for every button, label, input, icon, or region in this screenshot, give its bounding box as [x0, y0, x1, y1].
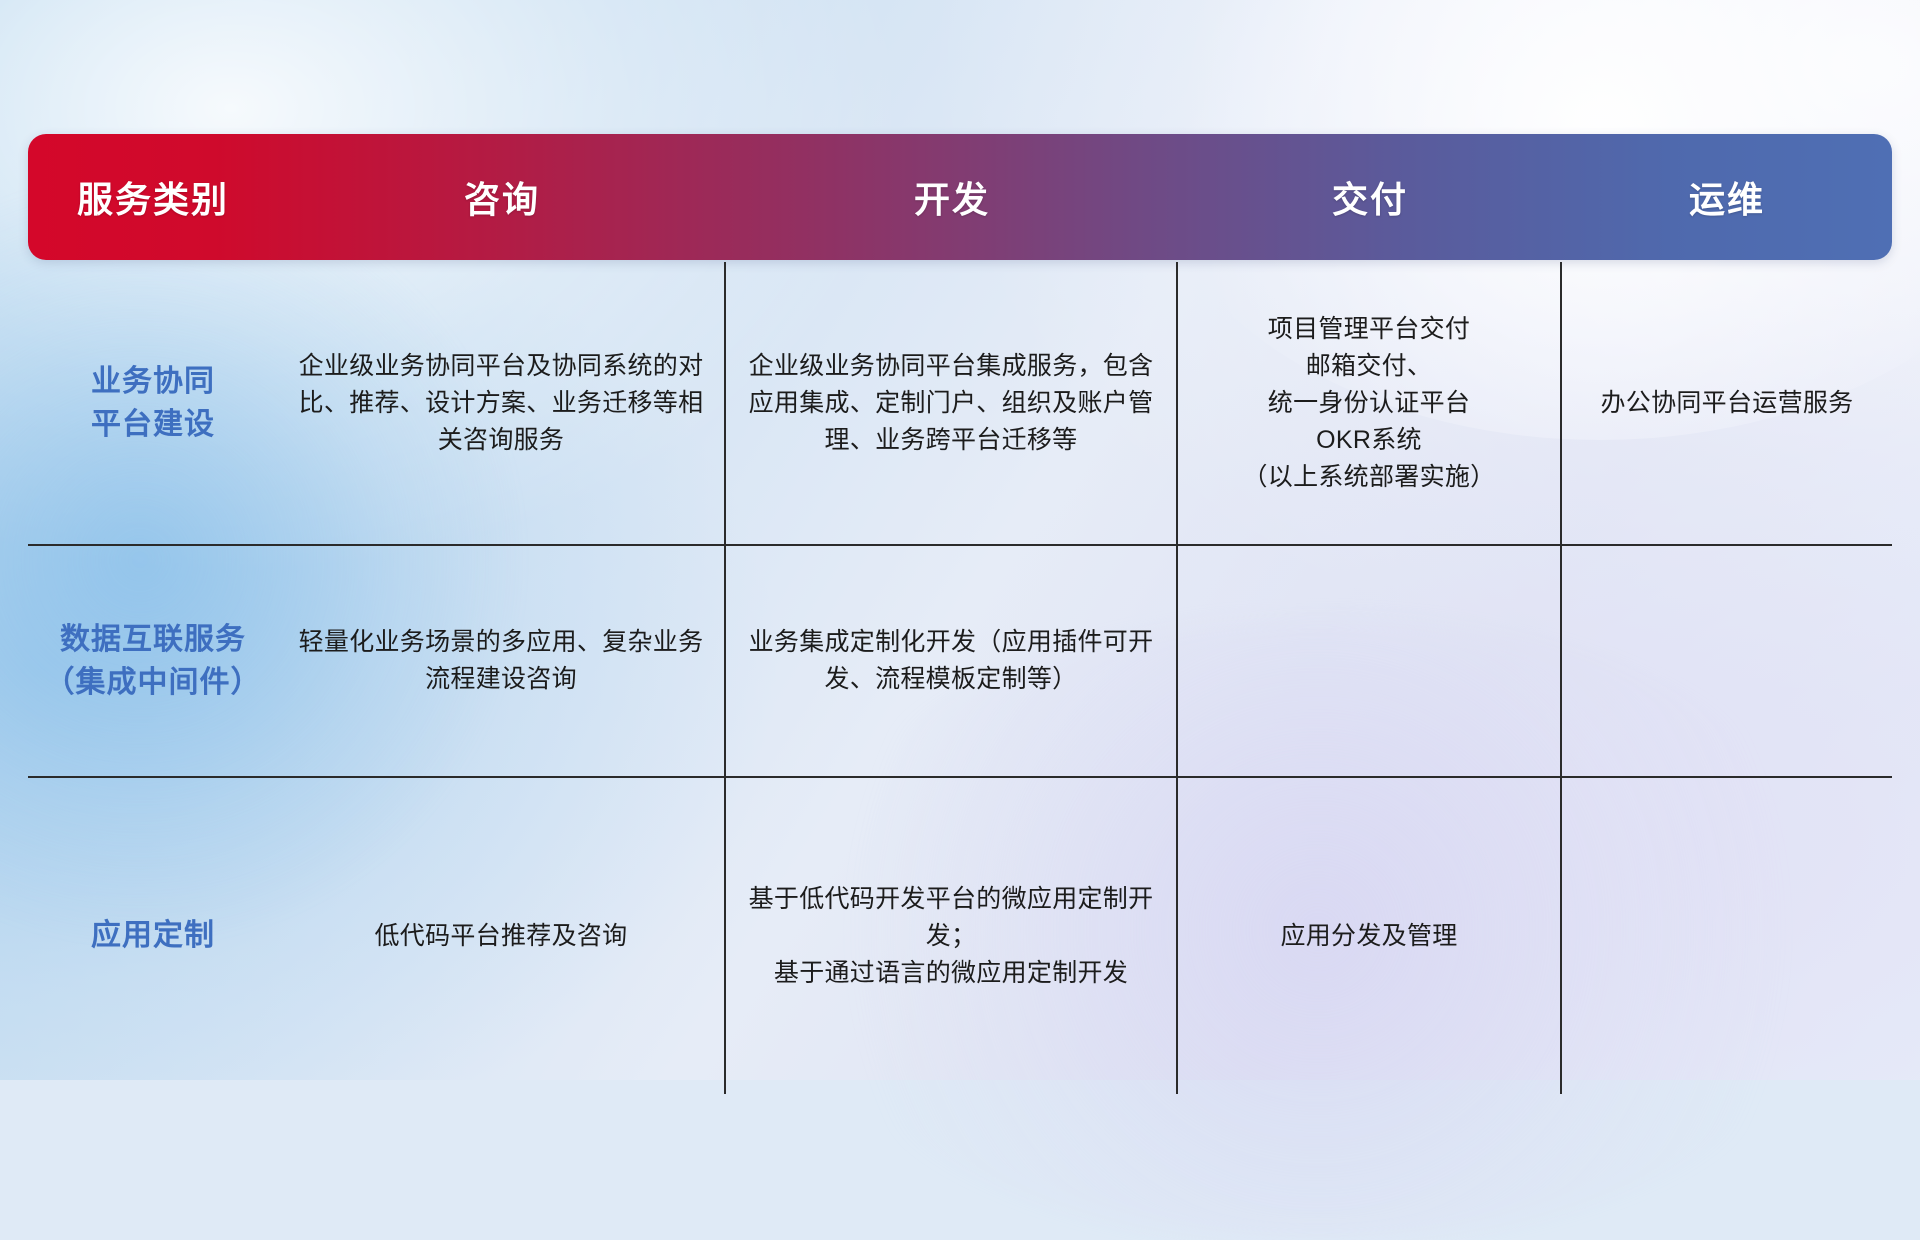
- cell-consulting: 企业级业务协同平台及协同系统的对比、推荐、设计方案、业务迁移等相关咨询服务: [278, 262, 726, 544]
- table-body: 业务协同 平台建设 企业级业务协同平台及协同系统的对比、推荐、设计方案、业务迁移…: [28, 262, 1892, 1094]
- cell-development: 企业级业务协同平台集成服务，包含应用集成、定制门户、组织及账户管理、业务跨平台迁…: [726, 262, 1178, 544]
- cell-development: 业务集成定制化开发（应用插件可开发、流程模板定制等）: [726, 546, 1178, 776]
- table-row: 数据互联服务 （集成中间件） 轻量化业务场景的多应用、复杂业务流程建设咨询 业务…: [28, 546, 1892, 778]
- cell-delivery: [1178, 546, 1562, 776]
- cell-consulting: 轻量化业务场景的多应用、复杂业务流程建设咨询: [278, 546, 726, 776]
- column-header-development: 开发: [726, 134, 1178, 260]
- cell-development: 基于低代码开发平台的微应用定制开发； 基于通过语言的微应用定制开发: [726, 778, 1178, 1094]
- cell-consulting: 低代码平台推荐及咨询: [278, 778, 726, 1094]
- table-row: 应用定制 低代码平台推荐及咨询 基于低代码开发平台的微应用定制开发； 基于通过语…: [28, 778, 1892, 1094]
- service-matrix-table: 服务类别 咨询 开发 交付 运维 业务协同 平台建设 企业级业务协同平台及协同系…: [28, 134, 1892, 964]
- column-header-category: 服务类别: [28, 134, 278, 260]
- cell-delivery: 项目管理平台交付 邮箱交付、 统一身份认证平台 OKR系统 （以上系统部署实施）: [1178, 262, 1562, 544]
- cell-operations: 办公协同平台运营服务: [1562, 262, 1892, 544]
- row-category-label: 数据互联服务 （集成中间件）: [28, 546, 278, 776]
- row-category-label: 业务协同 平台建设: [28, 262, 278, 544]
- table-header-row: 服务类别 咨询 开发 交付 运维: [28, 134, 1892, 260]
- row-category-label: 应用定制: [28, 778, 278, 1094]
- cell-operations: [1562, 778, 1892, 1094]
- table-row: 业务协同 平台建设 企业级业务协同平台及协同系统的对比、推荐、设计方案、业务迁移…: [28, 262, 1892, 546]
- column-header-delivery: 交付: [1178, 134, 1562, 260]
- cell-operations: [1562, 546, 1892, 776]
- column-header-consulting: 咨询: [278, 134, 726, 260]
- cell-delivery: 应用分发及管理: [1178, 778, 1562, 1094]
- column-header-operations: 运维: [1562, 134, 1892, 260]
